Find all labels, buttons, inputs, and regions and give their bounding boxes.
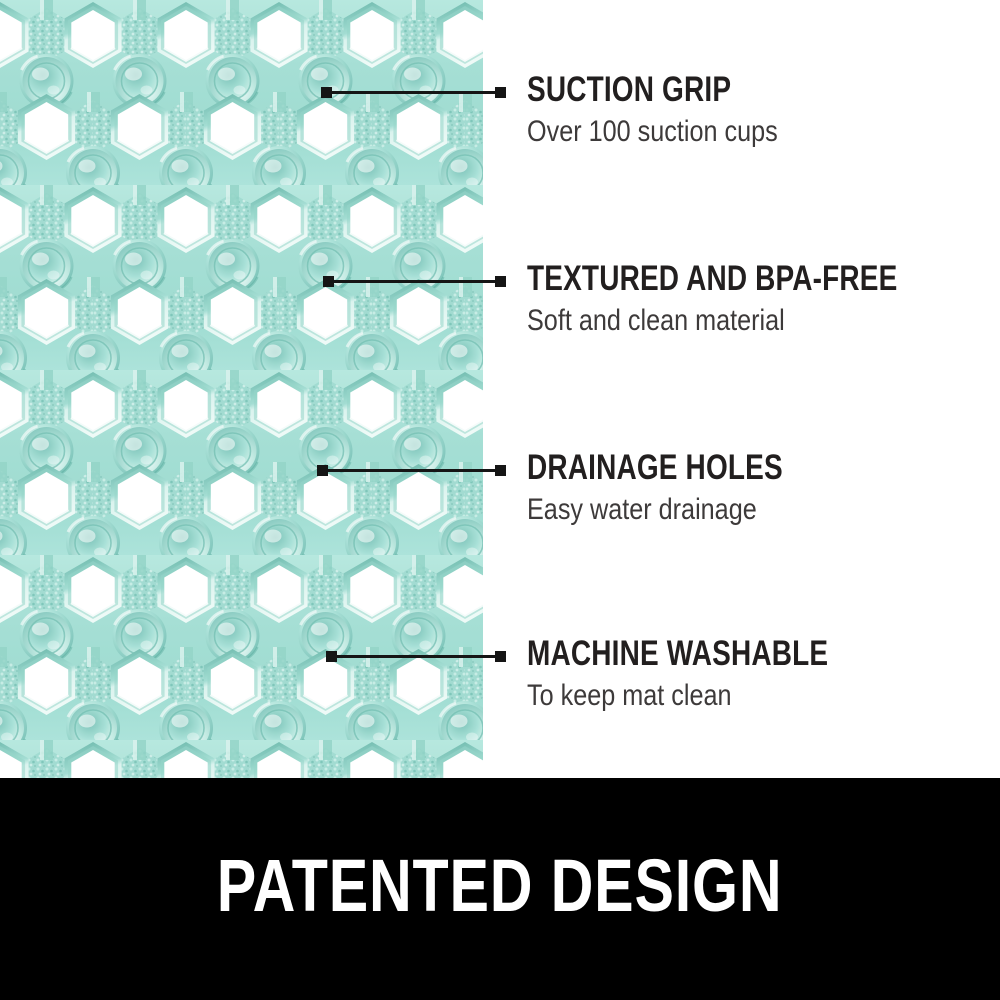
leader-line-suction-grip	[321, 87, 506, 98]
leader-end-dot	[495, 651, 506, 662]
leader-line-machine-washable	[326, 651, 506, 662]
leader-end-dot	[495, 465, 506, 476]
leader-line-drainage-holes	[317, 465, 506, 476]
leader-rule	[325, 91, 502, 94]
product-infographic: SUCTION GRIP Over 100 suction cups TEXTU…	[0, 0, 1000, 1000]
callout-title: TEXTURED AND BPA-FREE	[527, 261, 895, 297]
bottom-banner: PATENTED DESIGN	[0, 778, 1000, 1000]
leader-end-dot	[495, 276, 506, 287]
leader-rule	[327, 280, 502, 283]
leader-rule	[321, 469, 502, 472]
callout-drainage-holes: DRAINAGE HOLES Easy water drainage	[527, 450, 987, 526]
callout-subtitle: Over 100 suction cups	[527, 116, 913, 148]
leader-end-dot	[495, 87, 506, 98]
callout-subtitle: Easy water drainage	[527, 494, 913, 526]
leader-rule	[330, 655, 502, 658]
leader-line-textured-bpa-free	[323, 276, 506, 287]
banner-headline: PATENTED DESIGN	[217, 849, 783, 929]
banner-headline-wrap: PATENTED DESIGN	[0, 778, 1000, 1000]
callout-textured-bpa-free: TEXTURED AND BPA-FREE Soft and clean mat…	[527, 261, 987, 337]
callout-subtitle: To keep mat clean	[527, 680, 913, 712]
callout-title: DRAINAGE HOLES	[527, 450, 895, 486]
callout-title: SUCTION GRIP	[527, 72, 895, 108]
callout-title: MACHINE WASHABLE	[527, 636, 895, 672]
callout-subtitle: Soft and clean material	[527, 305, 913, 337]
callout-suction-grip: SUCTION GRIP Over 100 suction cups	[527, 72, 987, 148]
callout-machine-washable: MACHINE WASHABLE To keep mat clean	[527, 636, 987, 712]
